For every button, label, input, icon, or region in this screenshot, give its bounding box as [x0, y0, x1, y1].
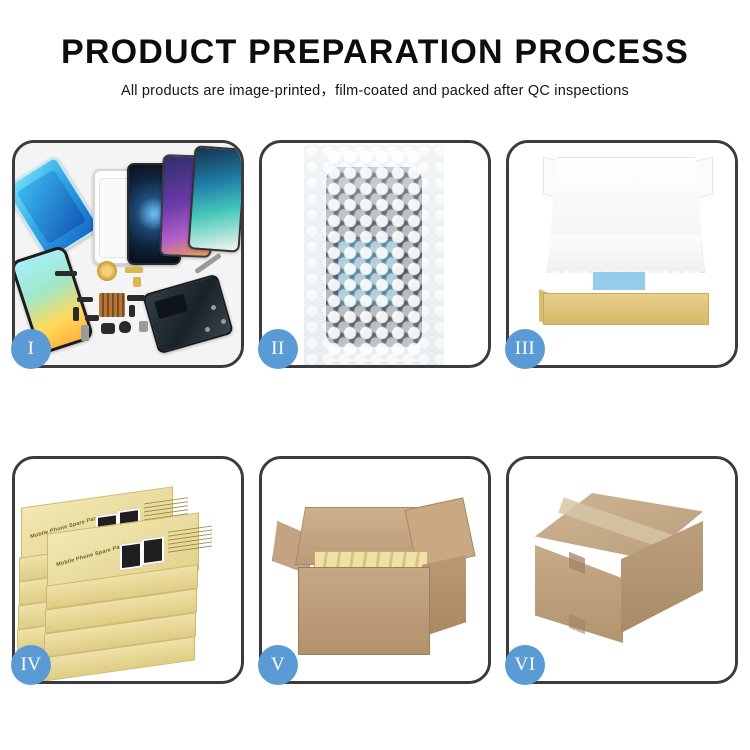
screw-icon [211, 305, 216, 310]
step-4-image: Mobile Phone Spare Parts Mobile Phone Sp… [15, 459, 241, 681]
sealed-carton-scene [509, 459, 735, 681]
step-badge-5: V [258, 645, 298, 685]
chip-module-part-icon [99, 293, 125, 317]
spare-part-icon [127, 295, 145, 301]
step-3-image [509, 143, 735, 365]
process-step-4[interactable]: Mobile Phone Spare Parts Mobile Phone Sp… [12, 456, 244, 684]
box-screen-print-icon [142, 536, 164, 565]
bubble-wrap-scene [262, 143, 488, 365]
process-step-3[interactable]: III [506, 140, 738, 368]
process-step-6[interactable]: VI [506, 456, 738, 684]
box-screen-print-icon [120, 541, 142, 570]
process-step-5[interactable]: V [259, 456, 491, 684]
retail-box-label: Mobile Phone Spare Parts [56, 543, 127, 569]
open-carton-scene [262, 459, 488, 681]
process-step-1[interactable]: I [12, 140, 244, 368]
page-header: PRODUCT PREPARATION PROCESS All products… [0, 0, 750, 101]
page-subtitle: All products are image-printed，film-coat… [0, 81, 750, 101]
spare-part-icon [55, 271, 77, 276]
step-badge-1: I [11, 329, 51, 369]
spare-part-icon [133, 277, 141, 287]
foam-liner-image [549, 235, 701, 273]
copper-coil-part-icon [97, 261, 117, 281]
step-1-image [15, 143, 241, 365]
carton-front-panel-image [298, 567, 430, 655]
spare-part-icon [77, 297, 93, 302]
stacked-boxes-scene: Mobile Phone Spare Parts Mobile Phone Sp… [15, 459, 241, 681]
wrapped-items-row-image [551, 269, 701, 295]
blue-phone-back-image [15, 155, 101, 261]
bubble-texture-front [326, 149, 422, 361]
spare-part-icon [73, 307, 79, 321]
disassembled-phone-back-image [142, 273, 234, 354]
phone-parts-scene [15, 143, 241, 365]
step-2-image [262, 143, 488, 365]
process-step-grid: I II III [12, 140, 738, 684]
screw-icon [221, 319, 226, 324]
page-title: PRODUCT PREPARATION PROCESS [0, 32, 750, 72]
box-kraft-base-image [543, 293, 709, 325]
spare-part-icon [139, 321, 148, 332]
spare-part-icon [101, 323, 115, 334]
step-5-image [262, 459, 488, 681]
spare-part-icon [119, 321, 131, 333]
screw-icon [205, 327, 210, 332]
spare-part-icon [85, 315, 99, 321]
spare-part-icon [81, 325, 89, 341]
process-step-2[interactable]: II [259, 140, 491, 368]
spare-part-icon [125, 267, 143, 273]
step-badge-2: II [258, 329, 298, 369]
step-badge-4: IV [11, 645, 51, 685]
step-6-image [509, 459, 735, 681]
box-spec-lines [168, 525, 212, 553]
spare-part-icon [129, 305, 135, 317]
open-box-scene [509, 143, 735, 365]
step-badge-6: VI [505, 645, 545, 685]
teal-phone-screen-image [187, 145, 241, 252]
step-badge-3: III [505, 329, 545, 369]
